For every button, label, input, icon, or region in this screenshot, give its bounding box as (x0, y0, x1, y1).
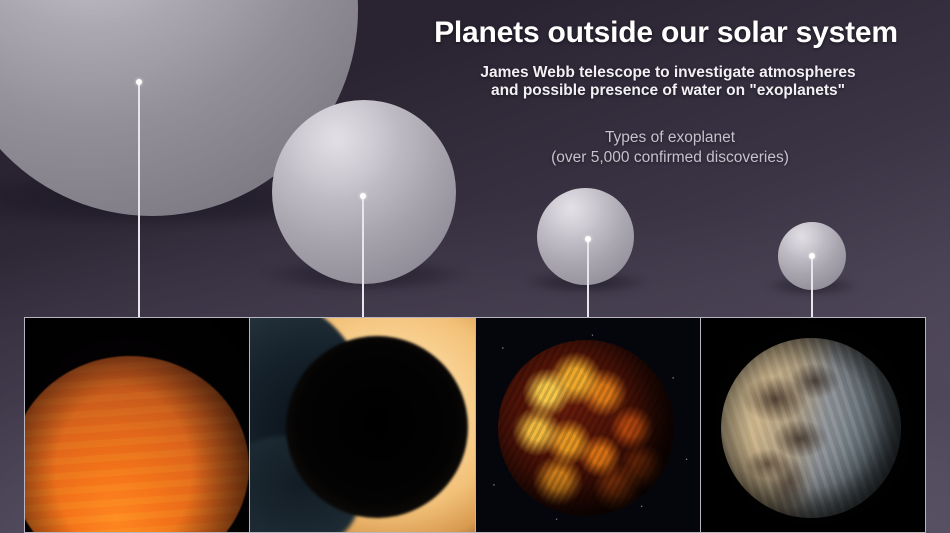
leader-line-3 (587, 241, 589, 320)
orange-gas-giant-icon (25, 318, 249, 532)
dark-planet-star-icon (250, 318, 474, 532)
rocky-world-photo (701, 318, 925, 532)
leader-dot-2 (360, 193, 366, 199)
section-heading: Types of exoplanet (over 5,000 confirmed… (420, 128, 920, 168)
leader-dot-4 (809, 253, 815, 259)
page-subtitle-line-2: and possible presence of water on "exopl… (398, 82, 938, 100)
infographic-root: Planets outside our solar system James W… (0, 0, 950, 533)
section-heading-line-1: Types of exoplanet (420, 128, 920, 148)
exoplanet-photo-strip (24, 317, 926, 533)
page-title: Planets outside our solar system (390, 16, 942, 50)
leader-line-4 (811, 258, 813, 320)
lava-world-photo (476, 318, 700, 532)
leader-line-2 (362, 198, 364, 320)
leader-dot-3 (585, 236, 591, 242)
page-subtitle: James Webb telescope to investigate atmo… (398, 64, 938, 100)
page-subtitle-line-1: James Webb telescope to investigate atmo… (398, 64, 938, 82)
section-heading-line-2: (over 5,000 confirmed discoveries) (420, 148, 920, 168)
gas-giant-photo (25, 318, 249, 532)
leader-line-1 (138, 84, 140, 320)
lava-planet-icon (476, 318, 700, 532)
transiting-planet-photo (250, 318, 474, 532)
rocky-planet-icon (701, 318, 925, 532)
leader-dot-1 (136, 79, 142, 85)
